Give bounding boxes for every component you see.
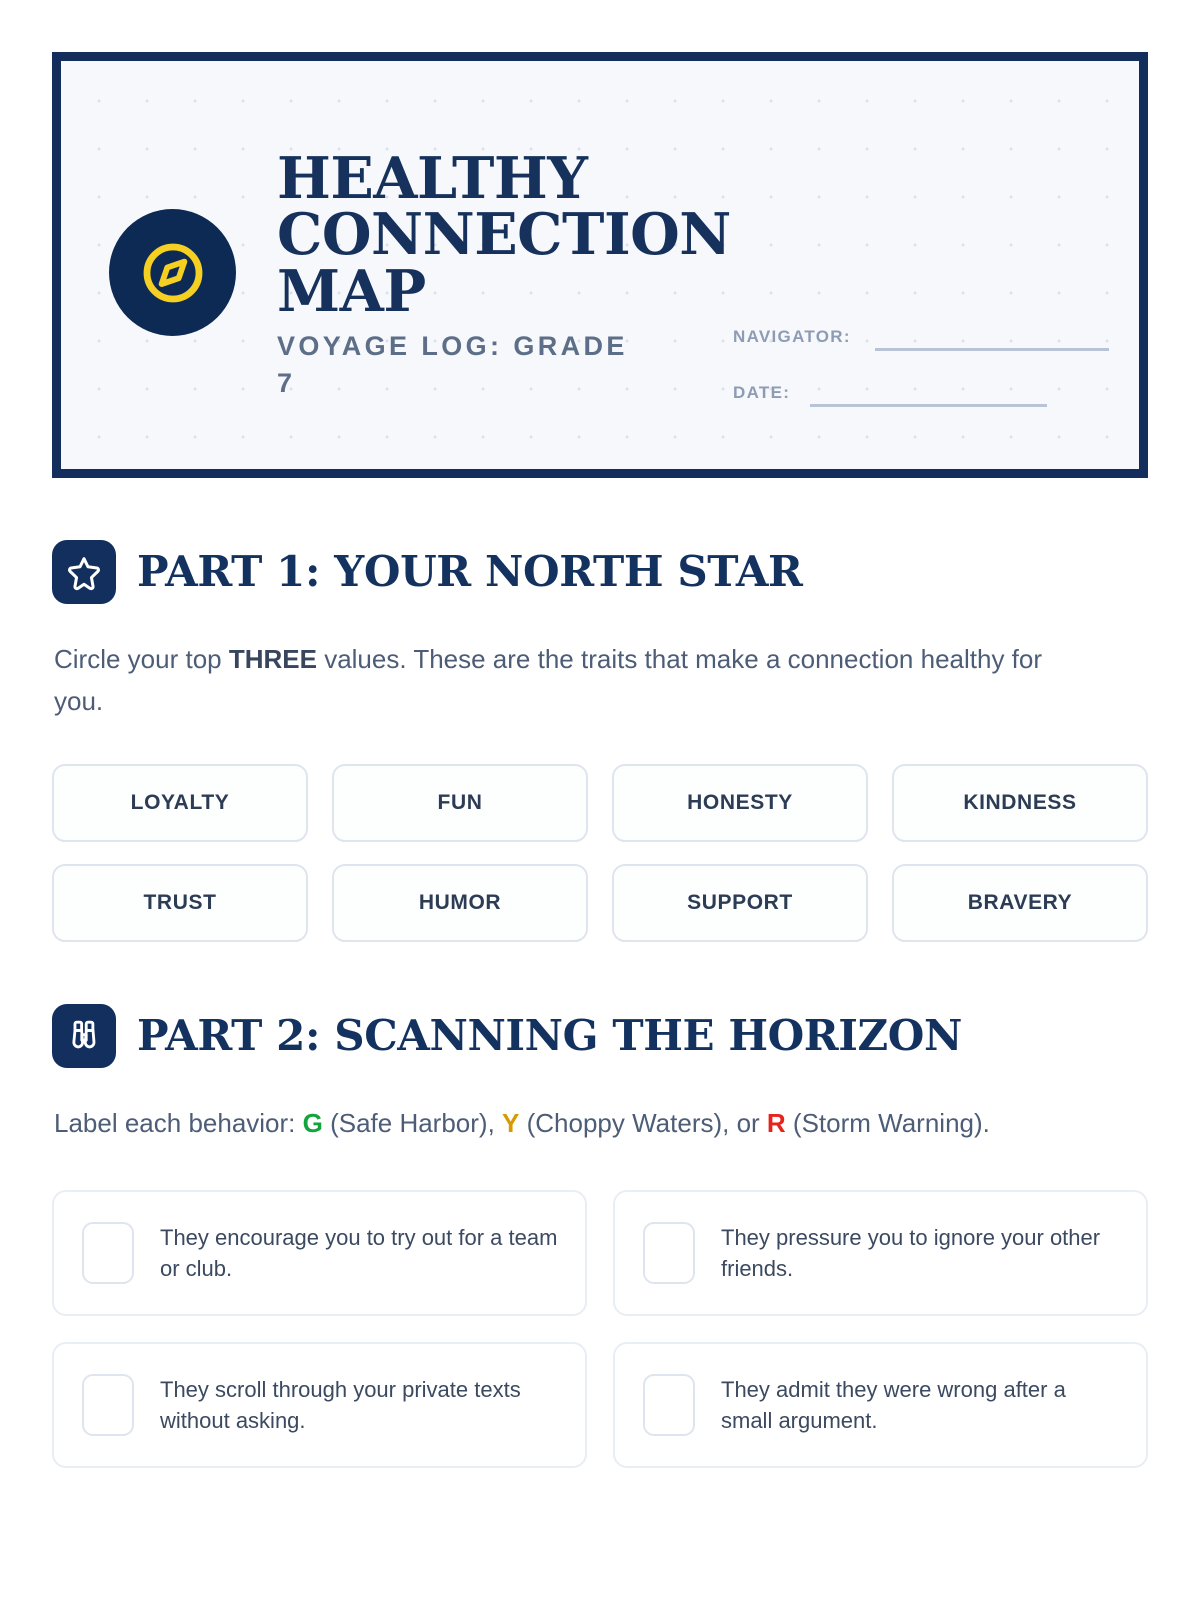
part-1-title: PART 1: YOUR NORTH STAR <box>137 551 803 593</box>
star-icon <box>52 540 116 604</box>
instruction-lead: Label each behavior: <box>54 1108 303 1138</box>
legend-y-text: (Choppy Waters), or <box>519 1108 767 1138</box>
page-title: HEALTHY CONNECTION MAP <box>277 151 657 320</box>
behavior-answer-box[interactable] <box>643 1222 695 1284</box>
value-chip[interactable]: HONESTY <box>612 764 868 842</box>
part-2-instruction: Label each behavior: G (Safe Harbor), Y … <box>54 1102 1094 1144</box>
value-chip[interactable]: FUN <box>332 764 588 842</box>
compass-icon <box>134 234 212 312</box>
value-chip[interactable]: TRUST <box>52 864 308 942</box>
behavior-text: They admit they were wrong after a small… <box>721 1374 1120 1437</box>
behavior-answer-box[interactable] <box>643 1374 695 1436</box>
legend-g-text: (Safe Harbor), <box>323 1108 502 1138</box>
section-part-2: PART 2: SCANNING THE HORIZON Label each … <box>52 1004 1148 1468</box>
behavior-card: They admit they were wrong after a small… <box>613 1342 1148 1468</box>
behavior-text: They scroll through your private texts w… <box>160 1374 559 1437</box>
legend-r-letter: R <box>767 1108 786 1138</box>
behavior-text: They pressure you to ignore your other f… <box>721 1222 1120 1285</box>
behavior-card: They scroll through your private texts w… <box>52 1342 587 1468</box>
behavior-answer-box[interactable] <box>82 1222 134 1284</box>
date-label: DATE: <box>733 383 790 407</box>
header-banner: HEALTHY CONNECTION MAP VOYAGE LOG: GRADE… <box>52 52 1148 478</box>
part-2-heading: PART 2: SCANNING THE HORIZON <box>52 1004 1148 1068</box>
instruction-emphasis: THREE <box>229 644 317 674</box>
compass-logo-badge <box>109 209 236 336</box>
navigator-input-line[interactable] <box>875 348 1109 351</box>
instruction-prefix: Circle your top <box>54 644 229 674</box>
part-1-instruction: Circle your top THREE values. These are … <box>54 638 1094 722</box>
section-part-1: PART 1: YOUR NORTH STAR Circle your top … <box>52 540 1148 942</box>
behavior-card: They encourage you to try out for a team… <box>52 1190 587 1316</box>
page-subtitle: VOYAGE LOG: GRADE 7 <box>277 328 657 401</box>
value-chip[interactable]: SUPPORT <box>612 864 868 942</box>
value-chip[interactable]: LOYALTY <box>52 764 308 842</box>
navigator-field-row: NAVIGATOR: <box>733 327 1109 351</box>
title-block: HEALTHY CONNECTION MAP VOYAGE LOG: GRADE… <box>277 117 657 401</box>
legend-g-letter: G <box>303 1108 323 1138</box>
navigator-label: NAVIGATOR: <box>733 327 851 351</box>
binoculars-icon <box>52 1004 116 1068</box>
header-fields: NAVIGATOR: DATE: <box>733 117 1109 439</box>
part-2-title: PART 2: SCANNING THE HORIZON <box>137 1015 962 1057</box>
value-chip[interactable]: BRAVERY <box>892 864 1148 942</box>
part-1-heading: PART 1: YOUR NORTH STAR <box>52 540 1148 604</box>
legend-r-text: (Storm Warning). <box>786 1108 990 1138</box>
value-chip-grid: LOYALTY FUN HONESTY KINDNESS TRUST HUMOR… <box>52 764 1148 942</box>
value-chip[interactable]: HUMOR <box>332 864 588 942</box>
behavior-card: They pressure you to ignore your other f… <box>613 1190 1148 1316</box>
legend-y-letter: Y <box>502 1108 519 1138</box>
behavior-text: They encourage you to try out for a team… <box>160 1222 559 1285</box>
value-chip[interactable]: KINDNESS <box>892 764 1148 842</box>
worksheet-page: HEALTHY CONNECTION MAP VOYAGE LOG: GRADE… <box>0 0 1200 1508</box>
date-field-row: DATE: <box>733 383 1109 407</box>
behavior-answer-box[interactable] <box>82 1374 134 1436</box>
behavior-card-grid: They encourage you to try out for a team… <box>52 1190 1148 1468</box>
date-input-line[interactable] <box>810 404 1047 407</box>
